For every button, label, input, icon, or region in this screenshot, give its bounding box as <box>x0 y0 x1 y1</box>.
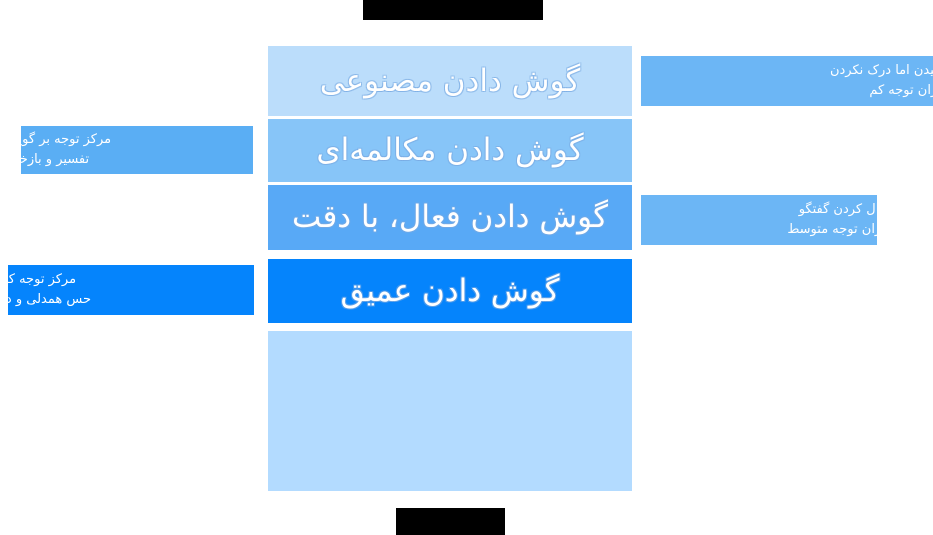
level-bar-artificial-listening[interactable]: گوش دادن مصنوعی <box>268 46 632 116</box>
note-line-primary: شنیدن اما درک نکردن <box>830 61 933 81</box>
note-line-secondary: میزان توجه کم <box>869 81 933 101</box>
level-bar-active-listening[interactable]: گوش دادن فعال، با دقت <box>268 185 632 250</box>
level-bar-conversational-listening[interactable]: گوش دادن مکالمه‌ای <box>268 119 632 182</box>
diagram-title-bottom <box>396 508 505 535</box>
note-artificial-listening[interactable]: شنیدن اما درک نکردن میزان توجه کم <box>641 56 933 106</box>
note-line-primary: مرکز توجه بر گوینده <box>1 130 111 150</box>
diagram-title-top: دا <box>363 0 543 20</box>
note-line-primary: مرکز توجه کامل <box>0 270 76 290</box>
level-bar-empty[interactable] <box>268 331 632 491</box>
note-line-secondary: تفسیر و بازخورد <box>1 150 89 170</box>
note-active-listening[interactable]: دنبال کردن گفتگو میزان توجه متوسط <box>641 195 877 245</box>
level-label: گوش دادن مصنوعی <box>320 64 581 98</box>
level-label: گوش دادن عمیق <box>341 274 560 308</box>
level-label: گوش دادن فعال، با دقت <box>292 200 608 234</box>
note-line-primary: دنبال کردن گفتگو <box>799 200 893 220</box>
note-line-secondary: حس همدلی و درک <box>0 290 91 310</box>
note-conversational-listening[interactable]: مرکز توجه بر گوینده تفسیر و بازخورد <box>21 126 253 174</box>
level-label: گوش دادن مکالمه‌ای <box>316 133 583 167</box>
note-line-secondary: میزان توجه متوسط <box>787 220 893 240</box>
note-deep-listening[interactable]: مرکز توجه کامل حس همدلی و درک <box>8 265 254 315</box>
diagram-canvas: دا گوش دادن مصنوعی گوش دادن مکالمه‌ای گو… <box>0 0 933 535</box>
level-bar-deep-listening[interactable]: گوش دادن عمیق <box>268 259 632 323</box>
